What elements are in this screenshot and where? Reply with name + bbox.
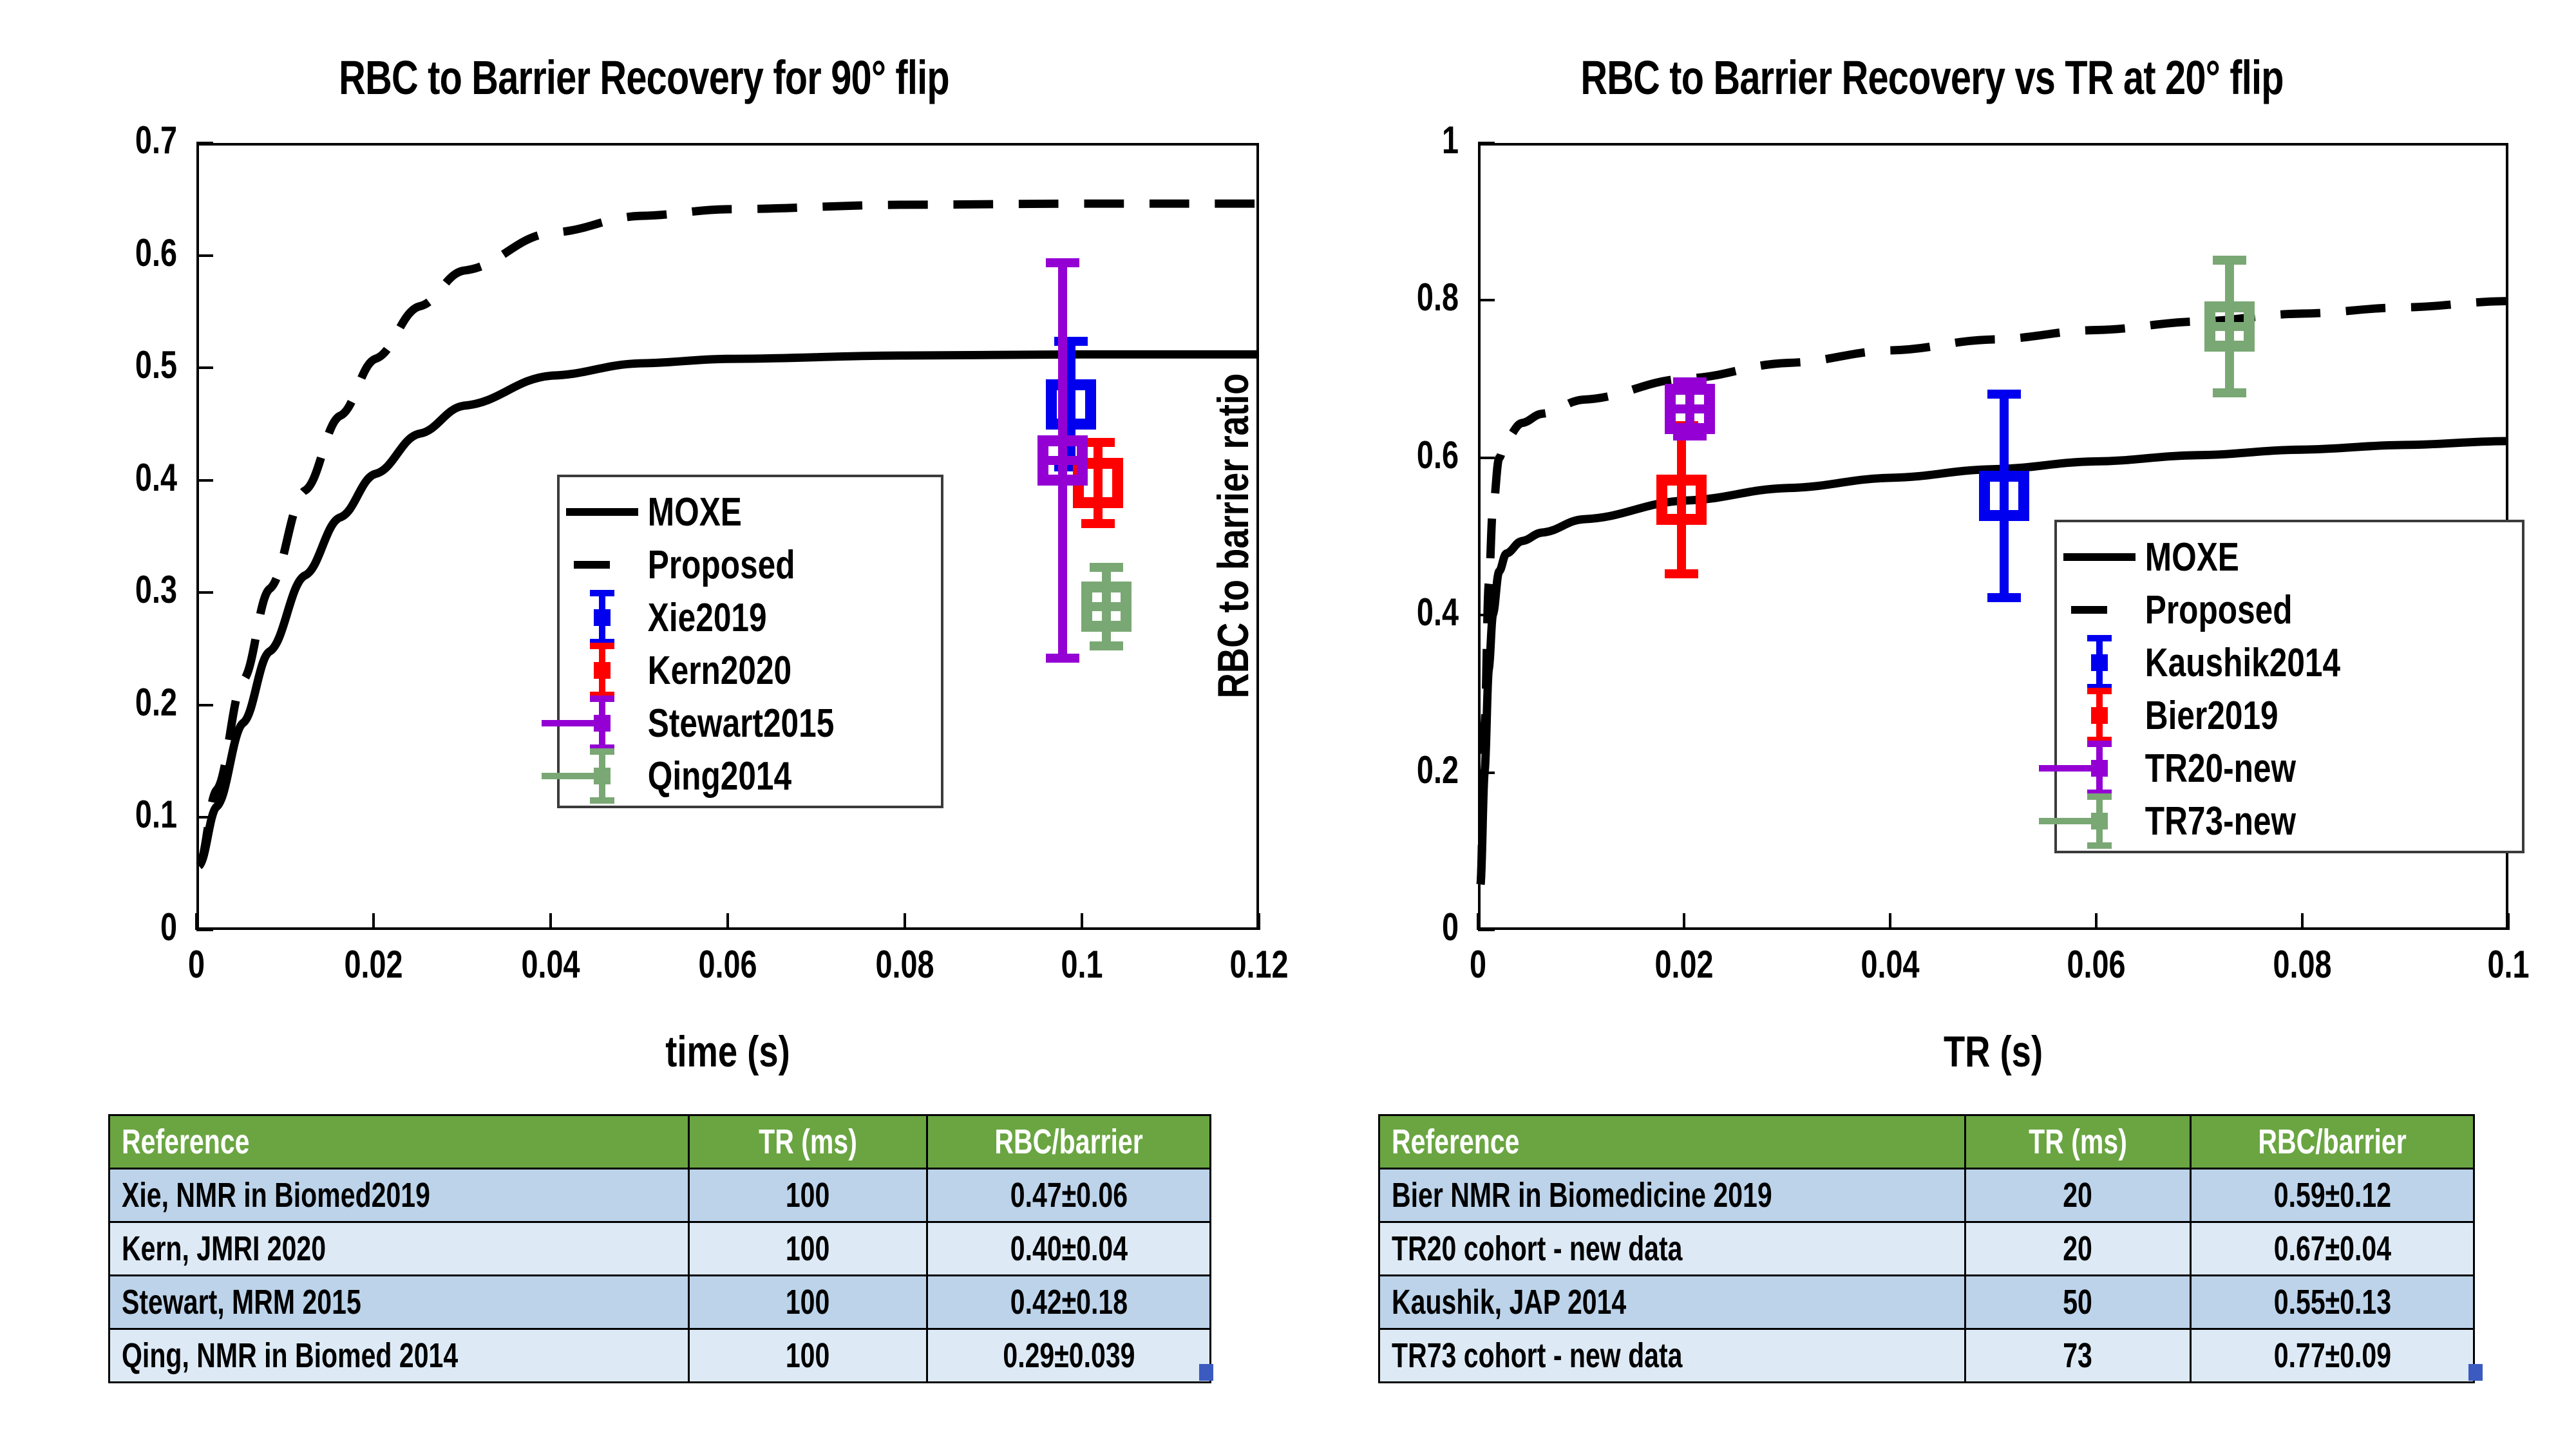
error-cap-top: [1987, 390, 2021, 399]
table-header-cell: Reference: [109, 1115, 689, 1169]
x-tickmark: [1477, 913, 1479, 930]
table-cell: 20: [1965, 1169, 2191, 1222]
table-resize-handle-left[interactable]: [1199, 1364, 1213, 1381]
legend-key-icon: [2057, 795, 2142, 848]
error-cap-bottom: [1081, 519, 1115, 528]
legend-label: Proposed: [2142, 587, 2293, 633]
table-cell: 0.29±0.039: [927, 1329, 1211, 1383]
y-tick-l-7: 0.7: [26, 121, 177, 160]
errorbar-icon: [570, 643, 634, 698]
table-cell: 50: [1965, 1276, 2191, 1329]
y-tickmark: [1478, 142, 1495, 144]
x-axis-label-right: TR (s): [1581, 1027, 2405, 1077]
table-header-cell: TR (ms): [689, 1115, 927, 1169]
legend-item-moxe[interactable]: MOXE: [560, 486, 941, 538]
legend-item-bier2019[interactable]: Bier2019: [2057, 689, 2522, 742]
legend-key-icon: [2057, 689, 2142, 742]
y-tickmark: [196, 704, 213, 706]
reference-table-right[interactable]: ReferenceTR (ms)RBC/barrierBier NMR in B…: [1378, 1114, 2475, 1383]
table-header-cell: Reference: [1379, 1115, 1965, 1169]
x-tickmark: [726, 913, 729, 930]
table-cell: 0.40±0.04: [927, 1222, 1211, 1276]
x-tick-l-0: 0: [121, 945, 272, 984]
x-tickmark: [1258, 913, 1260, 930]
table-cell: 100: [689, 1222, 927, 1276]
x-tick-r-3: 0.06: [2021, 945, 2172, 984]
legend-item-kern2020[interactable]: Kern2020: [560, 644, 941, 697]
x-tickmark: [2507, 913, 2510, 930]
error-cap-bottom: [1665, 569, 1698, 578]
table-cell: TR20 cohort - new data: [1379, 1222, 1965, 1276]
errorbar-icon: [2067, 793, 2132, 849]
y-tick-l-4: 0.4: [26, 459, 177, 497]
x-tickmark: [2095, 913, 2098, 930]
table-row[interactable]: Xie, NMR in Biomed20191000.47±0.06: [109, 1169, 1211, 1222]
x-tickmark: [372, 913, 375, 930]
table-cell: 0.77±0.09: [2191, 1329, 2474, 1383]
dashed-line-icon: [2071, 606, 2107, 614]
legend-item-qing2014[interactable]: Qing2014: [560, 750, 941, 802]
table-row[interactable]: TR20 cohort - new data200.67±0.04: [1379, 1222, 2474, 1276]
error-cap-top: [2213, 256, 2246, 265]
legend-key-icon: [2057, 583, 2142, 636]
legend-label: Bier2019: [2142, 693, 2278, 739]
solid-line-icon: [566, 508, 638, 516]
x-tick-l-1: 0.02: [298, 945, 449, 984]
y-tick-l-2: 0.2: [26, 683, 177, 722]
x-tickmark: [549, 913, 552, 930]
y-tickmark: [196, 254, 213, 257]
y-tickmark: [1478, 457, 1495, 459]
y-tick-l-5: 0.5: [26, 346, 177, 384]
y-tick-r-4: 0.8: [1308, 278, 1459, 317]
x-tickmark: [1081, 913, 1083, 930]
x-tickmark: [1683, 913, 1685, 930]
legend-item-xie2019[interactable]: Xie2019: [560, 591, 941, 644]
legend-item-proposed[interactable]: Proposed: [560, 538, 941, 591]
error-cap-bottom: [2213, 388, 2246, 397]
table-resize-handle-right[interactable]: [2468, 1364, 2483, 1381]
legend-label: Kaushik2014: [2142, 640, 2340, 686]
table-header-row: ReferenceTR (ms)RBC/barrier: [1379, 1115, 2474, 1169]
marker-square: [1665, 384, 1715, 434]
legend-label: TR73-new: [2142, 799, 2296, 844]
legend-item-kaushik2014[interactable]: Kaushik2014: [2057, 636, 2522, 689]
errorbar-icon: [2067, 741, 2132, 796]
x-tickmark: [1889, 913, 1891, 930]
y-tick-r-0: 0: [1308, 908, 1459, 947]
panel-right: RBC to Barrier Recovery vs TR at 20° fli…: [1288, 0, 2576, 1082]
table-cell: 73: [1965, 1329, 2191, 1383]
legend-item-tr73-new[interactable]: TR73-new: [2057, 795, 2522, 848]
marker-square: [1979, 471, 2029, 521]
legend-left[interactable]: MOXEProposedXie2019Kern2020Stewart2015Qi…: [557, 475, 943, 808]
table-cell: Kaushik, JAP 2014: [1379, 1276, 1965, 1329]
table-cell: TR73 cohort - new data: [1379, 1329, 1965, 1383]
legend-label: MOXE: [2142, 535, 2239, 580]
x-tick-l-3: 0.06: [652, 945, 803, 984]
y-tickmark: [196, 142, 213, 144]
y-tickmark: [1478, 772, 1495, 774]
errorbar-icon: [570, 696, 634, 751]
errorbar-icon: [570, 590, 634, 645]
x-tick-r-5: 0.1: [2433, 945, 2576, 984]
error-cap-top: [1046, 258, 1079, 267]
table-cell: 0.67±0.04: [2191, 1222, 2474, 1276]
y-tick-r-5: 1: [1308, 121, 1459, 160]
table-cell: 100: [689, 1169, 927, 1222]
errorbar-icon: [570, 748, 634, 804]
table-cell: 0.42±0.18: [927, 1276, 1211, 1329]
y-tick-r-2: 0.4: [1308, 593, 1459, 632]
marker-square: [1081, 582, 1132, 632]
table-row[interactable]: Bier NMR in Biomedicine 2019200.59±0.12: [1379, 1169, 2474, 1222]
legend-key-icon: [560, 697, 645, 750]
legend-key-icon: [2057, 531, 2142, 583]
error-cap-bottom: [1046, 654, 1079, 663]
x-tickmark: [195, 913, 198, 930]
y-tickmark: [196, 366, 213, 369]
table-cell: 20: [1965, 1222, 2191, 1276]
y-tickmark: [1478, 299, 1495, 301]
x-tick-l-5: 0.1: [1007, 945, 1157, 984]
table-row[interactable]: Kaushik, JAP 2014500.55±0.13: [1379, 1276, 2474, 1329]
x-tick-l-4: 0.08: [829, 945, 980, 984]
y-tick-l-3: 0.3: [26, 571, 177, 609]
panel-left: RBC to Barrier Recovery for 90° flip RBC…: [0, 0, 1288, 1082]
legend-item-stewart2015[interactable]: Stewart2015: [560, 697, 941, 750]
errorbar-icon: [2067, 635, 2132, 690]
legend-label: Stewart2015: [645, 701, 834, 746]
y-tickmark: [1478, 929, 1495, 931]
y-tickmark: [196, 816, 213, 819]
table-header-cell: RBC/barrier: [927, 1115, 1211, 1169]
y-tick-l-1: 0.1: [26, 795, 177, 834]
legend-key-icon: [560, 591, 645, 644]
table-cell: Stewart, MRM 2015: [109, 1276, 689, 1329]
table-cell: 100: [689, 1276, 927, 1329]
errorbar-icon: [2067, 688, 2132, 743]
legend-key-icon: [560, 538, 645, 591]
table-cell: 0.55±0.13: [2191, 1276, 2474, 1329]
table-cell: Bier NMR in Biomedicine 2019: [1379, 1169, 1965, 1222]
legend-label: Kern2020: [645, 648, 791, 694]
x-tickmark: [2301, 913, 2304, 930]
table-cell: Kern, JMRI 2020: [109, 1222, 689, 1276]
error-cap-bottom: [1987, 593, 2021, 602]
legend-label: Qing2014: [645, 753, 791, 799]
y-tickmark: [196, 479, 213, 482]
x-axis-label-left: time (s): [303, 1027, 1153, 1077]
x-tickmark: [904, 913, 906, 930]
marker-square: [2204, 301, 2255, 352]
table-header-cell: TR (ms): [1965, 1115, 2191, 1169]
table-cell: 0.47±0.06: [927, 1169, 1211, 1222]
plot-title-left: RBC to Barrier Recovery for 90° flip: [142, 50, 1146, 105]
y-tick-l-0: 0: [26, 908, 177, 947]
y-tick-l-6: 0.6: [26, 234, 177, 272]
figure-canvas: RBC to Barrier Recovery for 90° flip RBC…: [0, 0, 2576, 1449]
table-header-cell: RBC/barrier: [2191, 1115, 2474, 1169]
legend-label: MOXE: [645, 489, 742, 535]
dashed-line-icon: [574, 561, 610, 569]
x-tick-l-2: 0.04: [475, 945, 626, 984]
legend-item-moxe[interactable]: MOXE: [2057, 531, 2522, 583]
legend-label: TR20-new: [2142, 746, 2296, 791]
legend-key-icon: [560, 486, 645, 538]
table-cell: 100: [689, 1329, 927, 1383]
legend-item-tr20-new[interactable]: TR20-new: [2057, 742, 2522, 795]
legend-right[interactable]: MOXEProposedKaushik2014Bier2019TR20-newT…: [2054, 520, 2524, 853]
x-tick-r-1: 0.02: [1609, 945, 1759, 984]
y-tick-r-3: 0.6: [1308, 436, 1459, 475]
marker-square: [1656, 475, 1707, 525]
legend-key-icon: [2057, 742, 2142, 795]
table-row[interactable]: Stewart, MRM 20151000.42±0.18: [109, 1276, 1211, 1329]
error-cap-bottom: [1090, 641, 1123, 650]
legend-key-icon: [2057, 636, 2142, 689]
y-tickmark: [196, 929, 213, 931]
table-row[interactable]: Kern, JMRI 20201000.40±0.04: [109, 1222, 1211, 1276]
legend-key-icon: [560, 750, 645, 802]
table-cell: Qing, NMR in Biomed 2014: [109, 1329, 689, 1383]
x-tick-r-2: 0.04: [1815, 945, 1965, 984]
table-header-row: ReferenceTR (ms)RBC/barrier: [109, 1115, 1211, 1169]
reference-table-left[interactable]: ReferenceTR (ms)RBC/barrierXie, NMR in B…: [108, 1114, 1211, 1383]
x-tick-r-0: 0: [1403, 945, 1553, 984]
table-cell: 0.59±0.12: [2191, 1169, 2474, 1222]
legend-label: Proposed: [645, 542, 795, 588]
legend-item-proposed[interactable]: Proposed: [2057, 583, 2522, 636]
error-cap-top: [1090, 563, 1123, 572]
solid-line-icon: [2063, 553, 2136, 561]
x-tick-r-4: 0.08: [2227, 945, 2378, 984]
y-axis-label-right: RBC to barrier ratio: [1208, 278, 1258, 793]
table-cell: Xie, NMR in Biomed2019: [109, 1169, 689, 1222]
table-row[interactable]: Qing, NMR in Biomed 20141000.29±0.039: [109, 1329, 1211, 1383]
y-tickmark: [196, 591, 213, 594]
y-tickmark: [1478, 614, 1495, 616]
table-row[interactable]: TR73 cohort - new data730.77±0.09: [1379, 1329, 2474, 1383]
plot-title-right: RBC to Barrier Recovery vs TR at 20° fli…: [1430, 50, 2434, 105]
marker-square: [1046, 379, 1096, 430]
legend-label: Xie2019: [645, 595, 767, 641]
marker-square: [1037, 435, 1088, 486]
legend-key-icon: [560, 644, 645, 697]
y-tick-r-1: 0.2: [1308, 751, 1459, 790]
